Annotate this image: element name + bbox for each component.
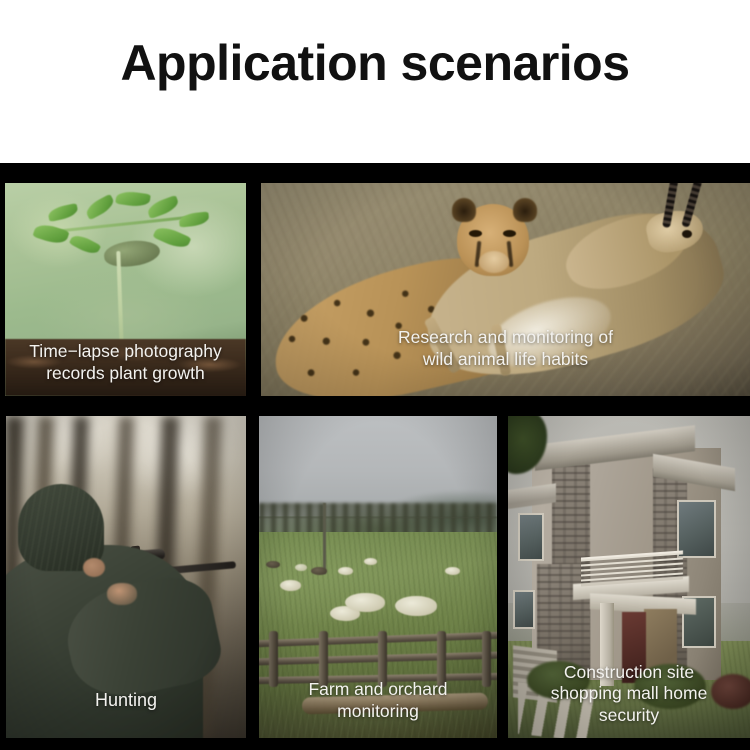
caption-line-1: Farm and orchard <box>265 679 491 700</box>
cheetah-ear <box>452 198 476 222</box>
sheep <box>266 561 280 568</box>
hunter-ear <box>83 558 105 577</box>
scenario-caption: Research and monitoring of wild animal l… <box>261 327 750 370</box>
scenario-card-farm-monitoring[interactable]: Farm and orchard monitoring <box>259 416 497 738</box>
cheetah-eye <box>503 230 516 237</box>
caption-line-2: shopping mall home <box>514 683 744 704</box>
scenario-card-time-lapse[interactable]: Time−lapse photography records plant gro… <box>5 183 246 396</box>
leaf-icon <box>115 189 151 208</box>
scenario-card-hunting[interactable]: Hunting <box>6 416 246 738</box>
leaf-icon <box>69 232 102 258</box>
power-line <box>259 517 497 518</box>
scenario-caption: Hunting <box>6 690 246 712</box>
hunter-hand <box>107 583 137 605</box>
application-scenarios-page: Application scenarios Time−lapse photogr… <box>0 0 750 750</box>
scenario-card-wildlife-research[interactable]: Research and monitoring of wild animal l… <box>261 183 750 396</box>
caption-line-1: Hunting <box>12 690 240 712</box>
sheep <box>345 593 385 612</box>
scenario-caption: Farm and orchard monitoring <box>259 679 497 722</box>
leaf-icon <box>178 211 209 227</box>
page-header: Application scenarios <box>0 0 750 163</box>
leaf-icon <box>32 221 69 247</box>
seed-pod <box>102 237 161 269</box>
page-title: Application scenarios <box>120 38 629 88</box>
caption-line-1: Construction site <box>514 662 744 683</box>
leaf-icon <box>47 203 79 222</box>
window <box>677 500 716 558</box>
fence-post <box>482 631 491 686</box>
cheetah-ear <box>513 198 537 222</box>
caption-line-1: Time−lapse photography <box>11 341 240 362</box>
sheep <box>295 564 307 571</box>
caption-line-2: records plant growth <box>11 363 240 384</box>
caption-line-3: security <box>514 705 744 726</box>
caption-line-2: wild animal life habits <box>267 349 744 370</box>
caption-line-1: Research and monitoring of <box>267 327 744 348</box>
scenario-caption: Construction site shopping mall home sec… <box>508 662 750 726</box>
scenario-card-home-security[interactable]: Construction site shopping mall home sec… <box>508 416 750 738</box>
leaf-icon <box>83 194 116 220</box>
scenario-caption: Time−lapse photography records plant gro… <box>5 341 246 384</box>
scenario-gallery: Time−lapse photography records plant gro… <box>0 163 750 750</box>
fence-post <box>269 631 278 686</box>
sheep <box>364 558 377 565</box>
cheetah-muzzle <box>479 251 509 273</box>
caption-line-2: monitoring <box>265 701 491 722</box>
leaf-icon <box>146 195 181 219</box>
utility-pole <box>323 503 326 574</box>
gazelle-eye <box>682 230 692 238</box>
sheep <box>395 596 437 616</box>
window <box>518 513 545 561</box>
cheetah-eye <box>469 230 482 237</box>
window <box>513 590 535 629</box>
